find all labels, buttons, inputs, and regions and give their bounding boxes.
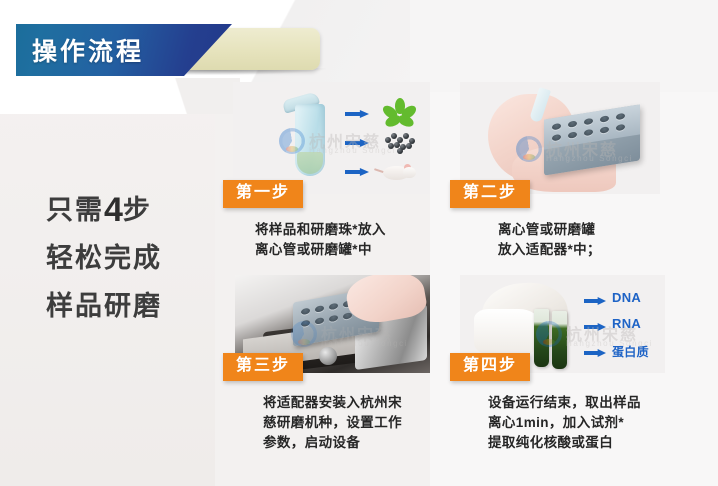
- page-title: 操作流程: [32, 32, 144, 68]
- annotation-protein: 蛋白质: [612, 343, 649, 360]
- step-4-badge: 第四步: [450, 353, 530, 381]
- step-3-line-2: 慈研磨机种，设置工作: [263, 413, 402, 433]
- step-4-line-2: 离心1min，加入试剂*: [488, 413, 641, 433]
- step-2-description: 离心管或研磨罐 放入适配器*中；: [498, 220, 601, 260]
- headline-line-3: 样品研磨: [46, 282, 216, 330]
- headline-suffix: 步: [123, 195, 152, 225]
- sample-tube-icon-1: [534, 309, 549, 367]
- background-diagonal-wedge: [0, 78, 240, 114]
- headline-block: 只需4步 轻松完成 样品研磨: [46, 186, 216, 330]
- infographic-page: 操作流程 只需4步 轻松完成 样品研磨: [0, 0, 718, 486]
- mouse-sample-icon: [383, 160, 419, 184]
- machine-knob-icon: [319, 347, 337, 365]
- step-4-line-3: 提取纯化核酸或蛋白: [488, 433, 641, 453]
- step-1-description: 将样品和研磨珠*放入 离心管或研磨罐*中: [255, 220, 386, 260]
- step-3-line-1: 将适配器安装入杭州宋: [263, 393, 402, 413]
- step-card-2: 杭州宋慈 Hangzhou Songci 第二步 离心管或研磨罐 放入适配器*中…: [440, 82, 660, 262]
- step-1-line-2: 离心管或研磨罐*中: [255, 240, 386, 260]
- headline-line-1: 只需4步: [46, 186, 216, 234]
- headline-prefix: 只需: [46, 195, 104, 225]
- headline-line-2: 轻松完成: [46, 234, 216, 282]
- headline-step-count: 4: [104, 191, 123, 229]
- grinding-beads-icon: [383, 130, 417, 154]
- annotation-rna: RNA: [612, 316, 641, 331]
- step-2-photo: 杭州宋慈 Hangzhou Songci: [460, 82, 660, 194]
- header-banner: 操作流程: [16, 24, 316, 76]
- sample-tube-icon-2: [552, 311, 567, 369]
- step-3-badge: 第三步: [223, 353, 303, 381]
- step-4-line-1: 设备运行结束，取出样品: [488, 393, 641, 413]
- step-3-line-3: 参数，启动设备: [263, 433, 402, 453]
- step-card-4: DNA RNA 蛋白质 杭州宋慈 Hangzhou Songci 第四步 设备运…: [440, 275, 665, 465]
- step-4-description: 设备运行结束，取出样品 离心1min，加入试剂* 提取纯化核酸或蛋白: [488, 393, 641, 453]
- step-3-description: 将适配器安装入杭州宋 慈研磨机种，设置工作 参数，启动设备: [263, 393, 402, 453]
- leaf-sample-icon: [383, 98, 417, 128]
- step-1-photo: 杭州宋慈 Hangzhou Songci: [233, 82, 430, 194]
- step-2-badge: 第二步: [450, 180, 530, 208]
- gloved-hand-lower-icon: [474, 309, 540, 355]
- annotation-dna: DNA: [612, 290, 641, 305]
- step-2-line-1: 离心管或研磨罐: [498, 220, 601, 240]
- step-card-1: 杭州宋慈 Hangzhou Songci 第一步 将样品和研磨珠*放入 离心管或…: [215, 82, 430, 262]
- step-1-badge: 第一步: [223, 180, 303, 208]
- step-2-line-2: 放入适配器*中；: [498, 240, 601, 260]
- step-1-line-1: 将样品和研磨珠*放入: [255, 220, 386, 240]
- step-card-3: 杭州宋慈 Hangzhou Songci 第三步 将适配器安装入杭州宋 慈研磨机…: [215, 275, 430, 465]
